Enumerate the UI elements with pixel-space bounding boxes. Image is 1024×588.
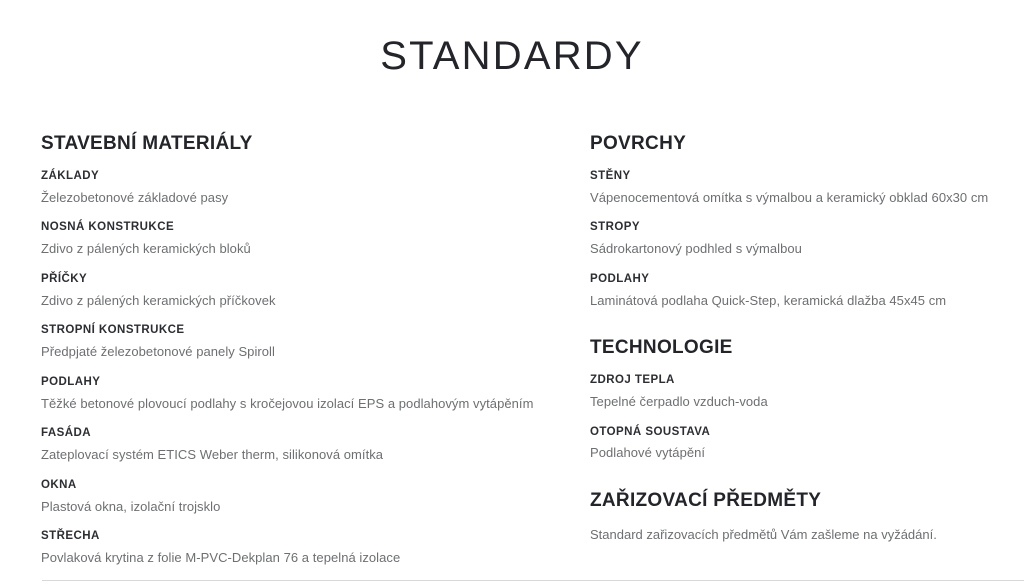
column-right: POVRCHY STĚNY Vápenocementová omítka s v… bbox=[545, 133, 1024, 543]
entry-podlahy: PODLAHY Těžké betonové plovoucí podlahy … bbox=[41, 375, 545, 412]
entry-podlahy: PODLAHY Laminátová podlaha Quick-Step, k… bbox=[590, 272, 1024, 309]
section-stavebni-materialy: STAVEBNÍ MATERIÁLY ZÁKLADY Železobetonov… bbox=[41, 133, 545, 567]
section-technologie: TECHNOLOGIE ZDROJ TEPLA Tepelné čerpadlo… bbox=[590, 337, 1024, 462]
section-title: TECHNOLOGIE bbox=[590, 337, 1024, 360]
entry-text: Zdivo z pálených keramických příčkovek bbox=[41, 292, 545, 310]
page-title: STANDARDY bbox=[0, 0, 1024, 79]
entry-text: Laminátová podlaha Quick-Step, keramická… bbox=[590, 292, 1024, 310]
entry-text: Zdivo z pálených keramických bloků bbox=[41, 240, 545, 258]
section-title: ZAŘIZOVACÍ PŘEDMĚTY bbox=[590, 490, 1024, 513]
section-zarizovaci-predmety: ZAŘIZOVACÍ PŘEDMĚTY Standard zařizovacíc… bbox=[590, 490, 1024, 543]
entry-text: Těžké betonové plovoucí podlahy s kročej… bbox=[41, 395, 545, 413]
entry-label: ZDROJ TEPLA bbox=[590, 373, 1024, 388]
entry-label: PODLAHY bbox=[590, 272, 1024, 287]
entry-label: STĚNY bbox=[590, 169, 1024, 184]
entry-otopna-soustava: OTOPNÁ SOUSTAVA Podlahové vytápění bbox=[590, 425, 1024, 462]
entry-text: Podlahové vytápění bbox=[590, 444, 1024, 462]
entry-text: Železobetonové základové pasy bbox=[41, 189, 545, 207]
entry-zaklady: ZÁKLADY Železobetonové základové pasy bbox=[41, 169, 545, 206]
footer-divider bbox=[42, 580, 1024, 581]
standards-columns: STAVEBNÍ MATERIÁLY ZÁKLADY Železobetonov… bbox=[0, 133, 1024, 567]
entry-fasada: FASÁDA Zateplovací systém ETICS Weber th… bbox=[41, 426, 545, 463]
entry-text: Sádrokartonový podhled s výmalbou bbox=[590, 240, 1024, 258]
entry-text: Plastová okna, izolační trojsklo bbox=[41, 498, 545, 516]
entry-label: NOSNÁ KONSTRUKCE bbox=[41, 220, 545, 235]
entry-zdroj-tepla: ZDROJ TEPLA Tepelné čerpadlo vzduch-voda bbox=[590, 373, 1024, 410]
entry-okna: OKNA Plastová okna, izolační trojsklo bbox=[41, 478, 545, 515]
entry-label: PŘÍČKY bbox=[41, 272, 545, 287]
entry-label: OKNA bbox=[41, 478, 545, 493]
entry-steny: STĚNY Vápenocementová omítka s výmalbou … bbox=[590, 169, 1024, 206]
entry-label: PODLAHY bbox=[41, 375, 545, 390]
section-title: STAVEBNÍ MATERIÁLY bbox=[41, 133, 545, 156]
section-povrchy: POVRCHY STĚNY Vápenocementová omítka s v… bbox=[590, 133, 1024, 309]
entry-stropy: STROPY Sádrokartonový podhled s výmalbou bbox=[590, 220, 1024, 257]
entry-text: Povlaková krytina z folie M-PVC-Dekplan … bbox=[41, 549, 545, 567]
entry-stropni-konstrukce: STROPNÍ KONSTRUKCE Předpjaté železobeton… bbox=[41, 323, 545, 360]
section-note: Standard zařizovacích předmětů Vám zašle… bbox=[590, 526, 1024, 544]
standards-page: STANDARDY STAVEBNÍ MATERIÁLY ZÁKLADY Žel… bbox=[0, 0, 1024, 588]
section-title: POVRCHY bbox=[590, 133, 1024, 156]
entry-label: STŘECHA bbox=[41, 529, 545, 544]
entry-nosna-konstrukce: NOSNÁ KONSTRUKCE Zdivo z pálených kerami… bbox=[41, 220, 545, 257]
entry-text: Předpjaté železobetonové panely Spiroll bbox=[41, 343, 545, 361]
entry-label: ZÁKLADY bbox=[41, 169, 545, 184]
entry-text: Zateplovací systém ETICS Weber therm, si… bbox=[41, 446, 545, 464]
entry-text: Tepelné čerpadlo vzduch-voda bbox=[590, 393, 1024, 411]
column-left: STAVEBNÍ MATERIÁLY ZÁKLADY Železobetonov… bbox=[0, 133, 545, 567]
entry-pricky: PŘÍČKY Zdivo z pálených keramických příč… bbox=[41, 272, 545, 309]
entry-strecha: STŘECHA Povlaková krytina z folie M-PVC-… bbox=[41, 529, 545, 566]
entry-label: FASÁDA bbox=[41, 426, 545, 441]
entry-label: STROPNÍ KONSTRUKCE bbox=[41, 323, 545, 338]
entry-label: OTOPNÁ SOUSTAVA bbox=[590, 425, 1024, 440]
entry-text: Vápenocementová omítka s výmalbou a kera… bbox=[590, 189, 1024, 207]
entry-label: STROPY bbox=[590, 220, 1024, 235]
